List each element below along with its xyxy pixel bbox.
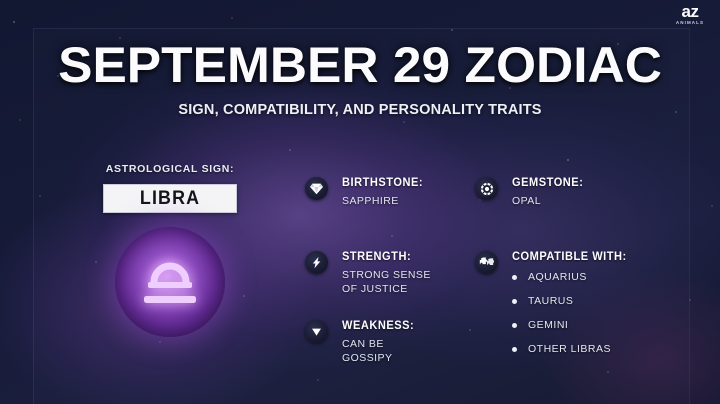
compatible-sign-3: OTHER LIBRAS <box>528 343 611 355</box>
down-triangle-icon <box>305 320 328 343</box>
libra-scales-glyph-icon <box>136 252 204 313</box>
astrological-sign-label: ASTROLOGICAL SIGN: <box>60 163 280 175</box>
compatible-signs-list: AQUARIUS TAURUS GEMINI OTHER LIBRAS <box>512 271 632 355</box>
sign-name: LIBRA <box>140 188 200 210</box>
fact-gemstone: GEMSTONE: OPAL <box>475 177 586 209</box>
puzzle-pieces-icon <box>475 251 498 274</box>
bullet-icon <box>512 323 517 328</box>
strength-label: STRENGTH: <box>342 251 427 263</box>
diamond-gem-icon <box>305 177 328 200</box>
lightning-bolt-icon <box>305 251 328 274</box>
weakness-value-line-2: GOSSIPY <box>342 352 417 366</box>
logo-mark: az <box>668 3 712 20</box>
strength-value-line-2: OF JUSTICE <box>342 283 431 297</box>
fact-birthstone: BIRTHSTONE: SAPPHIRE <box>305 177 426 209</box>
compatible-with-label: COMPATIBLE WITH: <box>512 251 627 263</box>
header: SEPTEMBER 29 ZODIAC SIGN, COMPATIBILITY,… <box>0 40 720 118</box>
birthstone-label: BIRTHSTONE: <box>342 177 423 189</box>
astrological-sign-block: ASTROLOGICAL SIGN: LIBRA <box>60 163 280 337</box>
compatible-sign-2: GEMINI <box>528 319 568 331</box>
strength-value-line-1: STRONG SENSE <box>342 269 431 283</box>
compatible-sign-0: AQUARIUS <box>528 271 587 283</box>
libra-symbol-badge <box>115 227 225 337</box>
list-item: AQUARIUS <box>512 271 632 283</box>
round-gemstone-icon <box>475 177 498 200</box>
list-item: TAURUS <box>512 295 632 307</box>
gemstone-value: OPAL <box>512 195 586 209</box>
content-area: ASTROLOGICAL SIGN: LIBRA <box>0 155 720 404</box>
list-item: GEMINI <box>512 319 632 331</box>
birthstone-value: SAPPHIRE <box>342 195 426 209</box>
weakness-value-line-1: CAN BE <box>342 338 417 352</box>
fact-weakness: WEAKNESS: CAN BE GOSSIPY <box>305 320 417 366</box>
bullet-icon <box>512 347 517 352</box>
sign-name-box: LIBRA <box>103 184 237 213</box>
list-item: OTHER LIBRAS <box>512 343 632 355</box>
bullet-icon <box>512 275 517 280</box>
fact-compatible-with: COMPATIBLE WITH: AQUARIUS TAURUS GEMINI … <box>475 251 632 367</box>
bullet-icon <box>512 299 517 304</box>
fact-strength: STRENGTH: STRONG SENSE OF JUSTICE <box>305 251 431 297</box>
gemstone-label: GEMSTONE: <box>512 177 583 189</box>
logo-subtext: ANIMALS <box>668 21 712 26</box>
compatible-sign-1: TAURUS <box>528 295 573 307</box>
page-title: SEPTEMBER 29 ZODIAC <box>0 40 720 90</box>
page-subtitle: SIGN, COMPATIBILITY, AND PERSONALITY TRA… <box>0 102 720 118</box>
infographic-canvas: az ANIMALS SEPTEMBER 29 ZODIAC SIGN, COM… <box>0 0 720 404</box>
weakness-label: WEAKNESS: <box>342 320 414 332</box>
az-animals-logo[interactable]: az ANIMALS <box>668 3 712 26</box>
